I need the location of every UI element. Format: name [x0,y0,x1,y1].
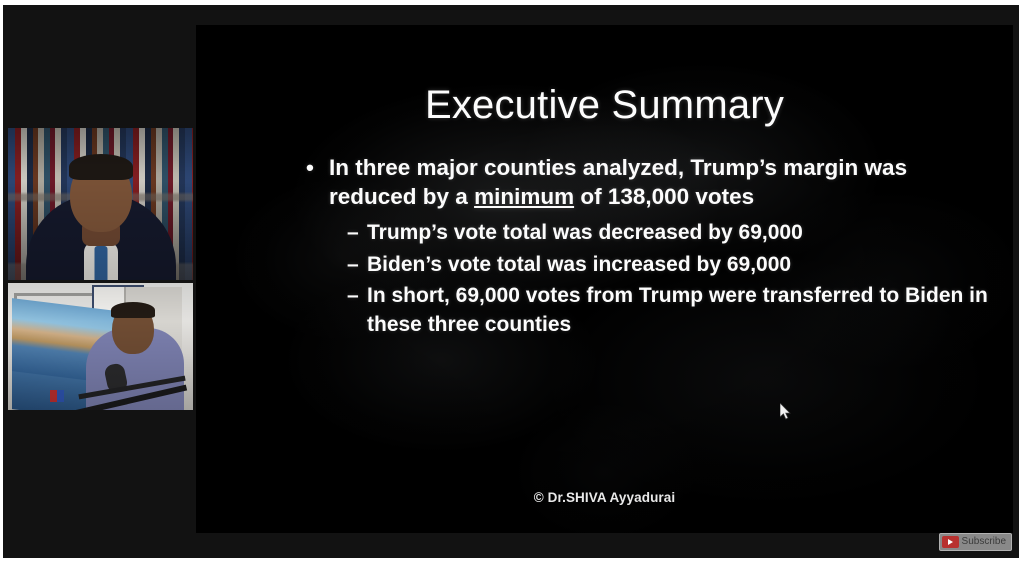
bullet-dash-icon: – [347,251,367,280]
speaker-2-hair [111,302,155,318]
bullet-item-sub-2-text: Biden’s vote total was increased by 69,0… [367,251,996,280]
bullet-item-primary-text: In three major counties analyzed, Trump’… [329,153,996,211]
youtube-play-icon [942,536,959,548]
bullet-text-after: of 138,000 votes [574,184,754,209]
bullet-text-underlined: minimum [474,184,574,209]
video-stage: Executive Summary • In three major count… [3,5,1019,558]
bullet-dash-icon: – [347,219,367,248]
bullet-item-sub-3-text: In short, 69,000 votes from Trump were t… [367,282,996,339]
speaker-1-tie [94,246,107,280]
bullet-dash-icon: – [347,282,367,311]
webcam-tile-speaker-1[interactable] [8,128,193,280]
presentation-slide: Executive Summary • In three major count… [196,25,1013,533]
youtube-subscribe-watermark[interactable]: Subscribe [939,533,1012,551]
webcam-tile-speaker-2[interactable] [8,283,193,410]
bullet-item-sub-1: – Trump’s vote total was decreased by 69… [347,219,996,248]
bullet-item-primary: • In three major counties analyzed, Trum… [306,153,996,211]
bullet-item-sub-1-text: Trump’s vote total was decreased by 69,0… [367,219,996,248]
bullet-item-sub-2: – Biden’s vote total was increased by 69… [347,251,996,280]
bullet-item-sub-3: – In short, 69,000 votes from Trump were… [347,282,996,339]
slide-copyright-footer: © Dr.SHIVA Ayyadurai [196,490,1013,505]
page-title: Executive Summary [196,83,1013,128]
subscribe-label: Subscribe [962,536,1006,548]
studio-desk-object [50,390,64,402]
slide-bullet-list: • In three major counties analyzed, Trum… [306,153,996,342]
speaker-1-hair [69,154,133,180]
video-player-frame: Executive Summary • In three major count… [0,0,1023,563]
bullet-dot-icon: • [306,153,329,182]
